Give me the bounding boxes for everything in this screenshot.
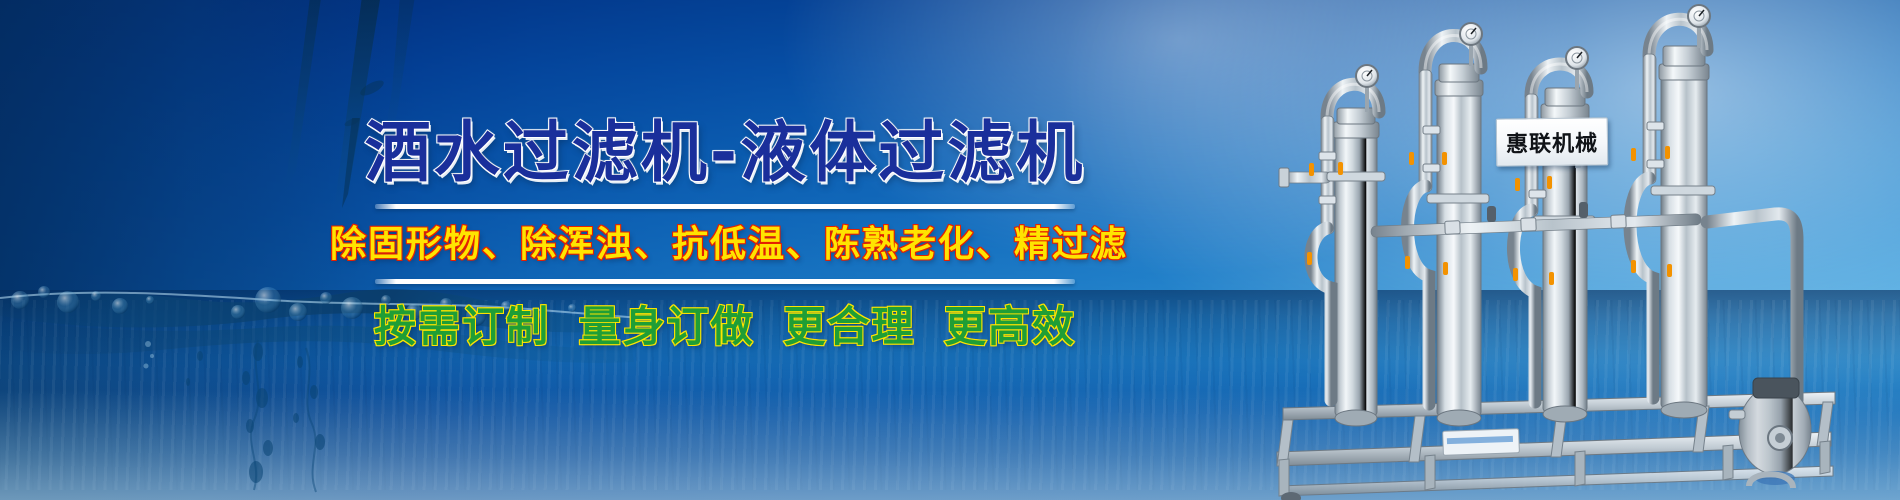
brand-sign-label: 惠联机械 [1506,126,1598,159]
tagline-part-4: 更高效 [944,302,1076,351]
divider-lower [375,279,1075,284]
divider-upper [375,204,1075,209]
brand-sign-icon: 惠联机械 [1496,117,1608,166]
tagline-part-1: 按需订制 [374,302,550,351]
tagline-part-2: 量身订做 [579,302,755,351]
tagline: 按需订制 量身订做 更合理 更高效 [330,304,1120,350]
feature-list: 除固形物、除浑浊、抗低温、陈熟老化、精过滤 [330,225,1120,265]
promotional-banner: 酒水过滤机-液体过滤机 除固形物、除浑浊、抗低温、陈熟老化、精过滤 按需订制 量… [0,0,1900,500]
tagline-part-3: 更合理 [783,302,915,351]
background-bottom-glow [0,390,1900,500]
banner-copy: 酒水过滤机-液体过滤机 除固形物、除浑浊、抗低温、陈熟老化、精过滤 按需订制 量… [330,118,1120,350]
page-title: 酒水过滤机-液体过滤机 [330,118,1120,188]
